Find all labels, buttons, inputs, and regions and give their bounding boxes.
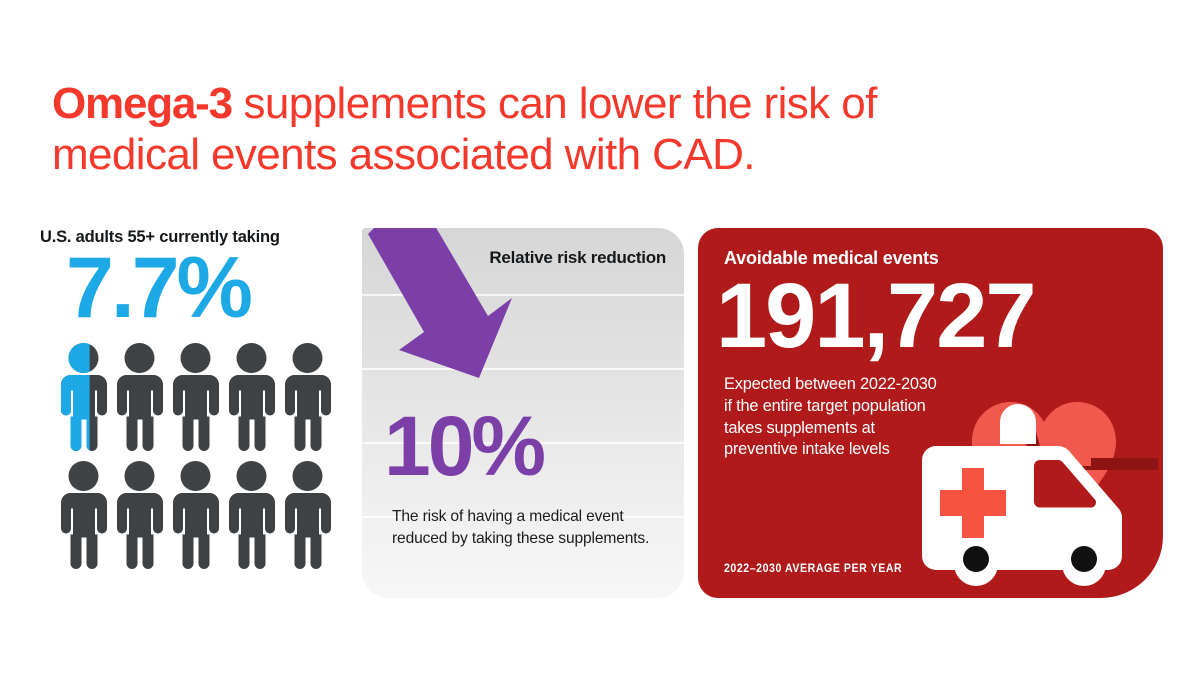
person-icon bbox=[114, 342, 165, 452]
left-statistic-panel: U.S. adults 55+ currently taking 7.7% bbox=[40, 228, 350, 600]
person-icon bbox=[58, 460, 109, 570]
relative-risk-title: Relative risk reduction bbox=[489, 248, 666, 268]
headline-emphasis: Omega-3 bbox=[52, 79, 232, 128]
page-title: Omega-3 supplements can lower the risk o… bbox=[52, 78, 982, 180]
person-icon bbox=[226, 460, 277, 570]
pictogram-row bbox=[58, 342, 338, 452]
person-icon bbox=[114, 460, 165, 570]
person-icon bbox=[170, 342, 221, 452]
person-icon bbox=[282, 460, 333, 570]
pictogram-chart bbox=[58, 342, 338, 570]
pictogram-row bbox=[58, 460, 338, 570]
avoidable-events-number: 191,727 bbox=[716, 270, 1035, 362]
left-panel-value: 7.7% bbox=[66, 249, 350, 328]
avoidable-events-footer: 2022–2030 AVERAGE PER YEAR bbox=[724, 563, 902, 575]
person-icon bbox=[282, 342, 333, 452]
ambulance-heart-illustration bbox=[916, 356, 1178, 606]
relative-risk-panel: Relative risk reduction 10% The risk of … bbox=[362, 228, 684, 598]
infographic-canvas: Omega-3 supplements can lower the risk o… bbox=[0, 0, 1200, 675]
relative-risk-body: The risk of having a medical event reduc… bbox=[392, 506, 654, 550]
avoidable-events-panel: Avoidable medical events 191,727 Expecte… bbox=[698, 228, 1163, 598]
avoidable-events-body: Expected between 2022-2030 if the entire… bbox=[724, 374, 942, 461]
relative-risk-value: 10% bbox=[384, 404, 543, 488]
person-icon bbox=[226, 342, 277, 452]
person-icon bbox=[170, 460, 221, 570]
person-icon-highlighted bbox=[58, 342, 109, 452]
